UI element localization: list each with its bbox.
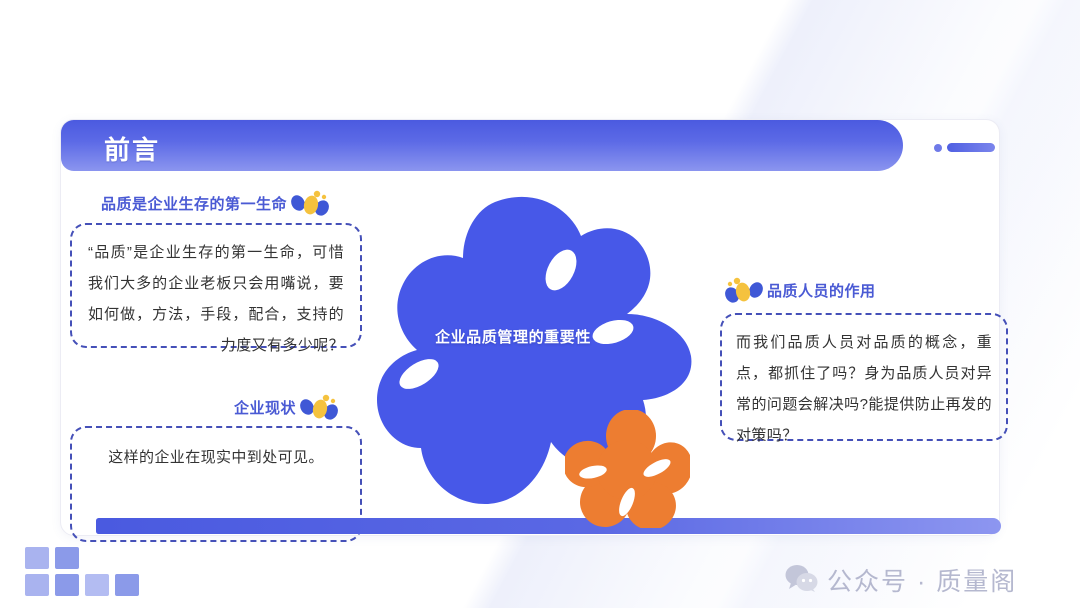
petal-cluster-icon <box>291 188 331 218</box>
section-heading-label: 品质是企业生存的第一生命 <box>101 193 287 214</box>
deco-square <box>25 547 49 569</box>
text-box-body: “品质”是企业生存的第一生命，可惜我们大多的企业老板只会用嘴说，要如何做，方法，… <box>72 225 360 361</box>
center-graphic: 企业品质管理的重要性 <box>375 192 695 537</box>
deco-dash-icon <box>947 143 995 152</box>
text-box-body: 这样的企业在现实中到处可见。 <box>72 428 360 473</box>
wechat-icon <box>785 564 818 597</box>
center-label: 企业品质管理的重要性 <box>375 326 651 347</box>
deco-square <box>25 574 49 596</box>
orange-flower-icon <box>565 410 690 528</box>
section-heading-enterprise-status: 企业现状 <box>234 392 340 422</box>
text-box-quality-staff-role: 而我们品质人员对品质的概念，重点，都抓住了吗？身为品质人员对异常的问题会解决吗?… <box>720 313 1008 441</box>
deco-square <box>85 574 109 596</box>
deco-square <box>55 574 79 596</box>
deco-square <box>55 547 79 569</box>
deco-dot-icon <box>934 144 942 152</box>
square-grid-decoration-icon <box>25 547 145 592</box>
slide-canvas: 前言 品质是企业生存的第一生命 “品质”是企业生存的第一生命，可惜我们大多的企业… <box>0 0 1080 608</box>
dot-dash-decoration-icon <box>934 143 995 152</box>
deco-square <box>115 574 139 596</box>
section-heading-label: 品质人员的作用 <box>767 280 876 301</box>
section-heading-quality-staff-role: 品质人员的作用 <box>723 275 876 305</box>
page-title: 前言 <box>104 130 160 167</box>
petal-cluster-icon <box>300 392 340 422</box>
section-heading-quality-first-life: 品质是企业生存的第一生命 <box>101 188 331 218</box>
watermark-label: 公众号 · 质量阁 <box>827 562 1017 598</box>
text-box-quality-first-life: “品质”是企业生存的第一生命，可惜我们大多的企业老板只会用嘴说，要如何做，方法，… <box>70 223 362 348</box>
watermark: 公众号 · 质量阁 <box>785 562 1017 598</box>
text-box-body: 而我们品质人员对品质的概念，重点，都抓住了吗？身为品质人员对异常的问题会解决吗?… <box>722 315 1006 451</box>
petal-cluster-icon <box>723 275 763 305</box>
header-bar: 前言 <box>61 120 903 171</box>
section-heading-label: 企业现状 <box>234 397 296 418</box>
